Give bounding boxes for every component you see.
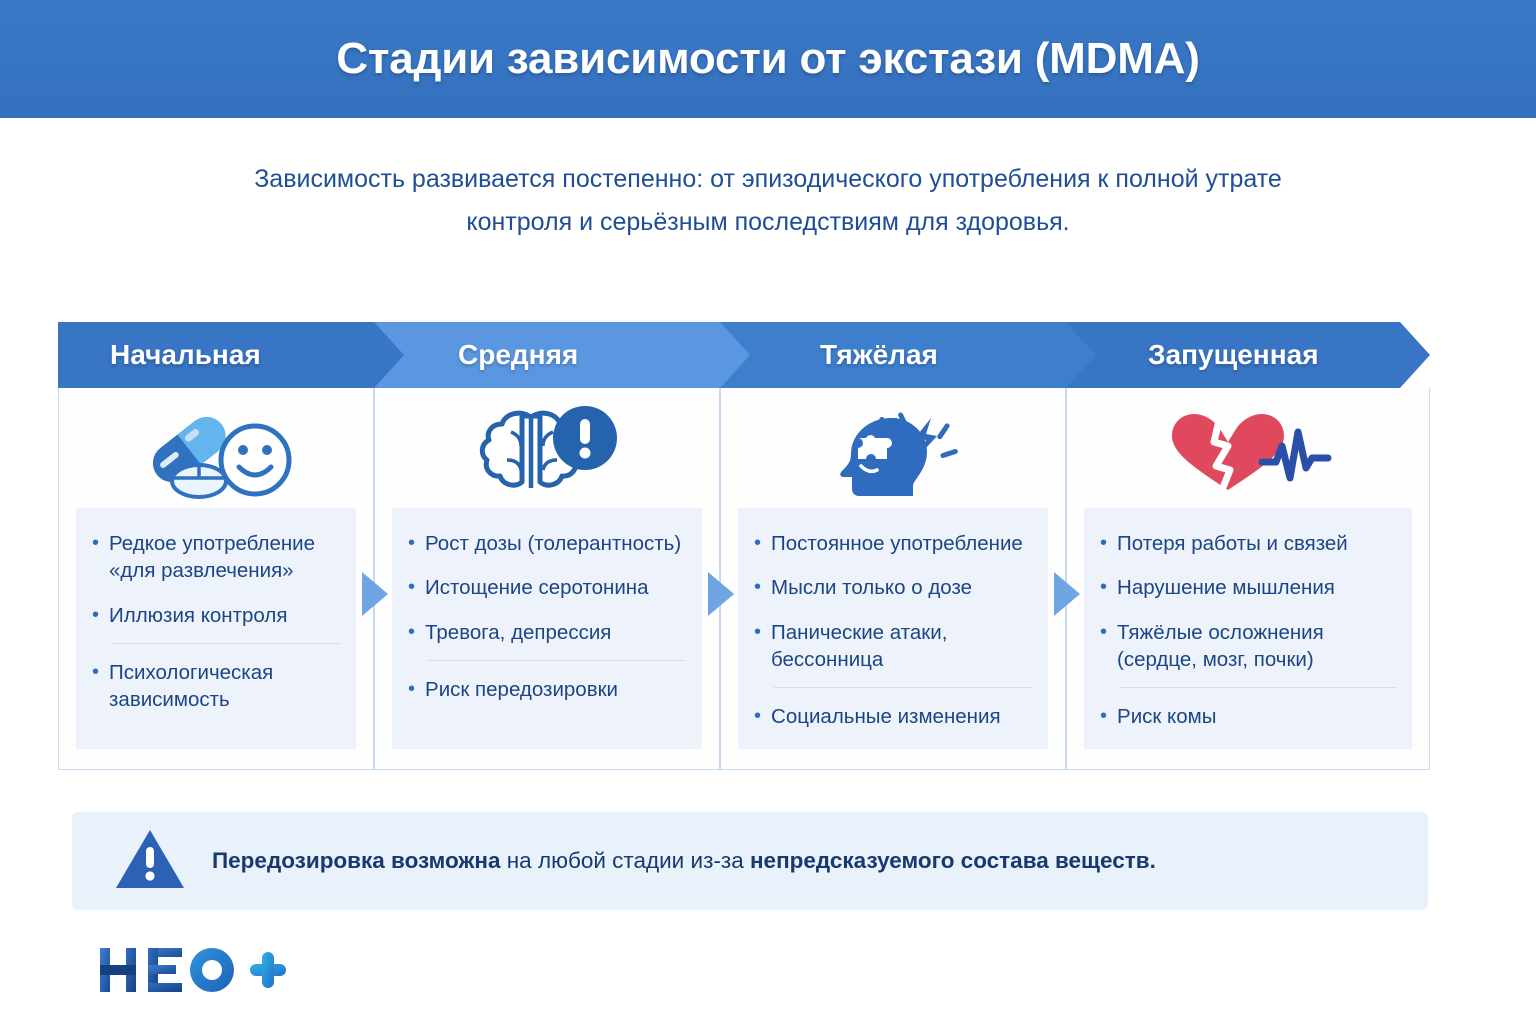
bullet-text: Иллюзия контроля bbox=[109, 602, 340, 629]
bullet-dot-icon: • bbox=[92, 530, 99, 557]
bullet-dot-icon: • bbox=[1100, 574, 1107, 601]
stage-bullets-panel-2: • Постоянное употребление • Мысли только… bbox=[738, 508, 1048, 749]
bullet-item: • Панические атаки, бессонница bbox=[754, 619, 1032, 674]
broken-heart-pulse-icon bbox=[1158, 402, 1338, 502]
bullet-item: • Психологическая зависимость bbox=[92, 659, 340, 714]
bullet-dot-icon: • bbox=[754, 530, 761, 557]
bullet-dot-icon: • bbox=[754, 574, 761, 601]
stage-name-2: Тяжёлая bbox=[820, 339, 938, 371]
bullet-dot-icon: • bbox=[754, 619, 761, 646]
bullet-item: • Риск комы bbox=[1100, 703, 1396, 730]
bullet-item: • Нарушение мышления bbox=[1100, 574, 1396, 601]
stage-icon-3 bbox=[1067, 388, 1429, 508]
bullet-text: Мысли только о дозе bbox=[771, 574, 1032, 601]
stage-icon-2 bbox=[721, 388, 1065, 508]
bullet-dot-icon: • bbox=[754, 703, 761, 730]
pills-smiley-icon bbox=[132, 402, 300, 502]
bullet-text: Тяжёлые осложнения (сердце, мозг, почки) bbox=[1117, 619, 1396, 674]
bullet-text: Панические атаки, бессонница bbox=[771, 619, 1032, 674]
brain-alert-icon bbox=[467, 402, 627, 502]
bullet-text: Постоянное употребление bbox=[771, 530, 1032, 557]
stage-banner-row: Начальная Средняя Тяжёлая Запущенная bbox=[58, 322, 1430, 388]
stage-name-0: Начальная bbox=[110, 339, 261, 371]
bullet-text: Психологическая зависимость bbox=[109, 659, 340, 714]
bullet-dot-icon: • bbox=[1100, 619, 1107, 646]
bullet-dot-icon: • bbox=[408, 530, 415, 557]
warning-banner: Передозировка возможна на любой стадии и… bbox=[72, 812, 1428, 910]
bullet-text: Редкое употребление «для развлечения» bbox=[109, 530, 340, 585]
stage-icon-0 bbox=[59, 388, 373, 508]
bullet-item: • Социальные изменения bbox=[754, 703, 1032, 730]
page-header: Стадии зависимости от экстази (MDMA) bbox=[0, 0, 1536, 118]
warning-text: Передозировка возможна на любой стадии и… bbox=[212, 846, 1156, 875]
bullet-item: • Мысли только о дозе bbox=[754, 574, 1032, 601]
stage-banner-2[interactable]: Тяжёлая bbox=[720, 322, 1102, 388]
page-title: Стадии зависимости от экстази (MDMA) bbox=[336, 34, 1199, 84]
stage-icon-1 bbox=[375, 388, 719, 508]
bullet-list-2: • Постоянное употребление • Мысли только… bbox=[754, 530, 1032, 730]
neo-plus-logo-icon bbox=[96, 942, 286, 998]
bullet-text: Нарушение мышления bbox=[1117, 574, 1396, 601]
stage-card-row: • Редкое употребление «для развлечения» … bbox=[58, 388, 1430, 770]
stage-banner-0[interactable]: Начальная bbox=[58, 322, 410, 388]
bullet-divider bbox=[428, 660, 686, 661]
stage-banner-1[interactable]: Средняя bbox=[374, 322, 756, 388]
bullet-item: • Редкое употребление «для развлечения» bbox=[92, 530, 340, 585]
stage-name-1: Средняя bbox=[458, 339, 578, 371]
stage-connector-arrow-2 bbox=[1052, 570, 1082, 618]
bullet-dot-icon: • bbox=[408, 574, 415, 601]
bullet-dot-icon: • bbox=[1100, 703, 1107, 730]
arrow-right-icon bbox=[706, 570, 736, 618]
stage-connector-arrow-0 bbox=[360, 570, 390, 618]
bullet-dot-icon: • bbox=[92, 602, 99, 629]
bullet-list-1: • Рост дозы (толерантность) • Истощение … bbox=[408, 530, 686, 703]
bullet-dot-icon: • bbox=[408, 619, 415, 646]
warning-text-bold-end: непредсказуемого состава веществ. bbox=[750, 848, 1156, 873]
bullet-item: • Тяжёлые осложнения (сердце, мозг, почк… bbox=[1100, 619, 1396, 674]
stage-card-1[interactable]: • Рост дозы (толерантность) • Истощение … bbox=[374, 388, 720, 770]
bullet-text: Риск комы bbox=[1117, 703, 1396, 730]
head-puzzle-lightning-icon bbox=[813, 402, 973, 502]
bullet-item: • Истощение серотонина bbox=[408, 574, 686, 601]
bullet-item: • Потеря работы и связей bbox=[1100, 530, 1396, 557]
bullet-text: Истощение серотонина bbox=[425, 574, 686, 601]
subtitle-line-2: контроля и серьёзным последствиям для зд… bbox=[148, 201, 1388, 244]
stage-card-2[interactable]: • Постоянное употребление • Мысли только… bbox=[720, 388, 1066, 770]
stage-name-3: Запущенная bbox=[1148, 339, 1319, 371]
subtitle-line-1: Зависимость развивается постепенно: от э… bbox=[148, 158, 1388, 201]
bullet-divider bbox=[774, 687, 1032, 688]
bullet-divider bbox=[1120, 687, 1396, 688]
stage-connector-arrow-1 bbox=[706, 570, 736, 618]
bullet-item: • Риск передозировки bbox=[408, 676, 686, 703]
bullet-text: Тревога, депрессия bbox=[425, 619, 686, 646]
bullet-item: • Рост дозы (толерантность) bbox=[408, 530, 686, 557]
bullet-item: • Тревога, депрессия bbox=[408, 619, 686, 646]
bullet-item: • Постоянное употребление bbox=[754, 530, 1032, 557]
bullet-dot-icon: • bbox=[92, 659, 99, 686]
bullet-divider bbox=[112, 643, 340, 644]
stages-track: Начальная Средняя Тяжёлая Запущенная bbox=[58, 322, 1430, 770]
bullet-list-0: • Редкое употребление «для развлечения» … bbox=[92, 530, 340, 713]
stage-card-0[interactable]: • Редкое употребление «для развлечения» … bbox=[58, 388, 374, 770]
brand-logo[interactable] bbox=[96, 942, 286, 998]
stage-bullets-panel-0: • Редкое употребление «для развлечения» … bbox=[76, 508, 356, 749]
bullet-text: Социальные изменения bbox=[771, 703, 1032, 730]
bullet-list-3: • Потеря работы и связей • Нарушение мыш… bbox=[1100, 530, 1396, 730]
bullet-text: Риск передозировки bbox=[425, 676, 686, 703]
bullet-text: Рост дозы (толерантность) bbox=[425, 530, 686, 557]
warning-triangle-icon bbox=[114, 827, 186, 896]
warning-text-regular: на любой стадии из-за bbox=[501, 848, 750, 873]
bullet-dot-icon: • bbox=[408, 676, 415, 703]
bullet-item: • Иллюзия контроля bbox=[92, 602, 340, 629]
bullet-dot-icon: • bbox=[1100, 530, 1107, 557]
warning-text-bold-start: Передозировка возможна bbox=[212, 848, 501, 873]
arrow-right-icon bbox=[1052, 570, 1082, 618]
page-subtitle: Зависимость развивается постепенно: от э… bbox=[148, 158, 1388, 244]
stage-card-3[interactable]: • Потеря работы и связей • Нарушение мыш… bbox=[1066, 388, 1430, 770]
bullet-text: Потеря работы и связей bbox=[1117, 530, 1396, 557]
stage-banner-3[interactable]: Запущенная bbox=[1066, 322, 1430, 388]
stage-bullets-panel-3: • Потеря работы и связей • Нарушение мыш… bbox=[1084, 508, 1412, 749]
arrow-right-icon bbox=[360, 570, 390, 618]
stage-bullets-panel-1: • Рост дозы (толерантность) • Истощение … bbox=[392, 508, 702, 749]
